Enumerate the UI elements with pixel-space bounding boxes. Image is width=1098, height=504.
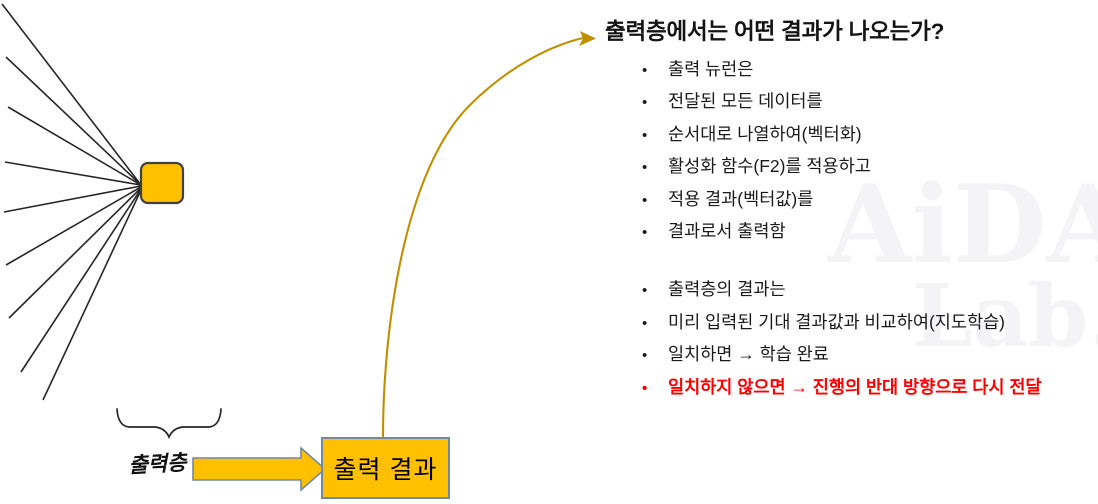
output-result-box[interactable]: 출력 결과: [321, 437, 450, 499]
list-item: • 미리 입력된 기대 결과값과 비교하여(지도학습): [600, 309, 1098, 341]
list-item: • 적용 결과(벡터값)를: [600, 186, 1098, 218]
list-item: • 출력 뉴런은: [600, 56, 1098, 88]
list-item-label: 순서대로 나열하여(벡터화): [668, 121, 1098, 146]
bullet-dot-icon: •: [642, 381, 668, 396]
list-item: • 활성화 함수(F2)를 적용하고: [600, 153, 1098, 185]
synapse-lines: [2, 4, 141, 400]
list-item-label: 미리 입력된 기대 결과값과 비교하여(지도학습): [668, 309, 1098, 334]
bullet-dot-icon: •: [642, 63, 668, 78]
synapse-line: [43, 190, 141, 400]
bullet-dot-icon: •: [642, 348, 668, 363]
output-result-label: 출력 결과: [334, 450, 438, 486]
bullet-dot-icon: •: [642, 283, 668, 298]
list-item: • 출력층의 결과는: [600, 276, 1098, 308]
bullet-group-process: • 출력 뉴런은 • 전달된 모든 데이터를 • 순서대로 나열하여(벡터화) …: [600, 56, 1098, 250]
list-item: • 순서대로 나열하여(벡터화): [600, 121, 1098, 153]
list-item: • 전달된 모든 데이터를: [600, 88, 1098, 120]
output-layer-label: 출력층: [109, 446, 205, 481]
slide-canvas: AiDA Lab. 출력층 출력 결과 출력층: [0, 0, 1098, 504]
synapse-line: [21, 189, 141, 372]
list-item-label: 전달된 모든 데이터를: [668, 88, 1098, 113]
list-item-label: 일치하지 않으면 → 진행의 반대 방향으로 다시 전달: [668, 374, 1098, 399]
bullet-group-separator: [600, 250, 1098, 276]
list-item: • 결과로서 출력함: [600, 218, 1098, 250]
list-item-label: 결과로서 출력함: [668, 218, 1098, 243]
bullet-group-comparison: • 출력층의 결과는 • 미리 입력된 기대 결과값과 비교하여(지도학습) •…: [600, 276, 1098, 406]
synapse-line: [2, 4, 141, 185]
bullet-dot-icon: •: [642, 160, 668, 175]
panel-title: 출력층에서는 어떤 결과가 나오는가?: [605, 14, 1098, 46]
list-item-label: 출력층의 결과는: [668, 276, 1098, 301]
explanation-panel: 출력층에서는 어떤 결과가 나오는가? • 출력 뉴런은 • 전달된 모든 데이…: [600, 14, 1098, 406]
list-item-label: 일치하면 → 학습 완료: [668, 341, 1098, 366]
list-item-label: 적용 결과(벡터값)를: [668, 186, 1098, 211]
bullet-dot-icon: •: [642, 225, 668, 240]
list-item: • 일치하면 → 학습 완료: [600, 341, 1098, 373]
list-item-label: 활성화 함수(F2)를 적용하고: [668, 153, 1098, 178]
output-neuron-node[interactable]: [141, 163, 183, 203]
bullet-dot-icon: •: [642, 193, 668, 208]
list-item-label: 출력 뉴런은: [668, 56, 1098, 81]
bullet-dot-icon: •: [642, 316, 668, 331]
flow-block-arrow: [193, 448, 325, 490]
bullet-dot-icon: •: [642, 95, 668, 110]
bullet-dot-icon: •: [642, 128, 668, 143]
list-item-emphasis: • 일치하지 않으면 → 진행의 반대 방향으로 다시 전달: [600, 374, 1098, 406]
connector-curve: [383, 38, 583, 437]
output-layer-brace: [117, 409, 221, 437]
